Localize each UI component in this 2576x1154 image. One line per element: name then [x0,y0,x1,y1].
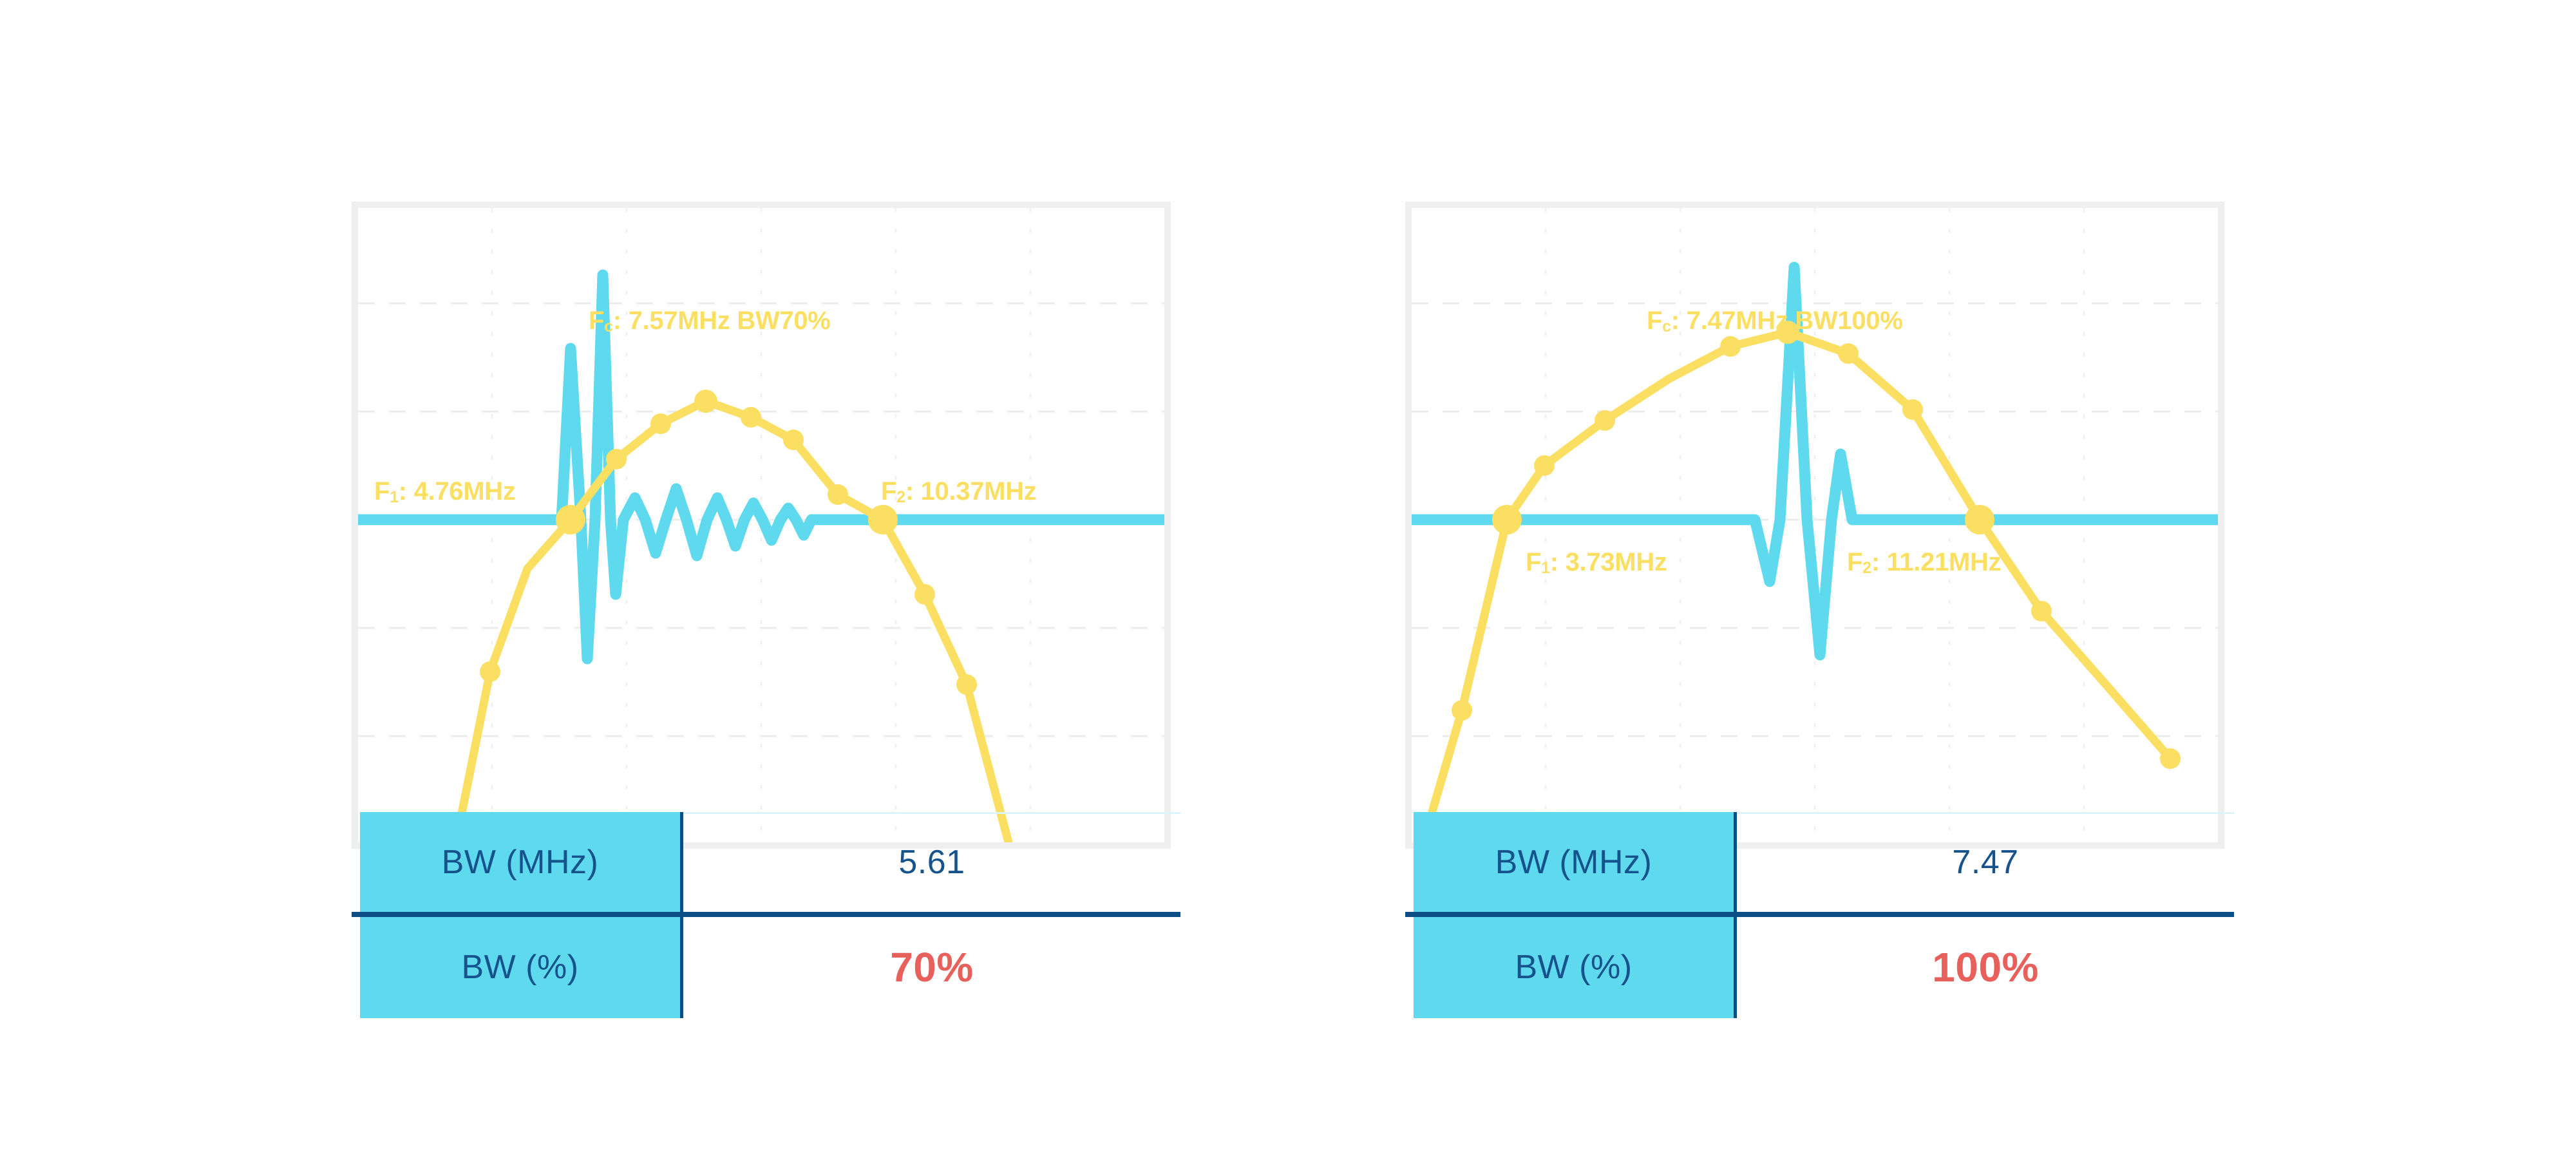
chart-svg-left [358,208,1164,842]
table-row: 100% [1737,917,2234,1017]
table-row: 70% [683,917,1180,1017]
table-row: BW (MHz) [1414,812,1734,912]
spectrum-trace-left [456,401,1009,842]
plot-area-left [358,208,1164,842]
bw-percent-label-right: BW (%) [1515,948,1632,987]
table-row: 5.61 [683,812,1180,912]
chart-frame-left: Fc: 7.57MHz BW70% F1: 4.76MHz F2: 10.37M… [352,202,1171,849]
spectrum-markers-right [1452,321,2181,769]
bw-mhz-value-right: 7.47 [1952,843,2018,882]
label-fc-left: Fc: 7.57MHz BW70% [589,308,831,334]
bw-mhz-value-left: 5.61 [898,843,965,882]
plot-area-right [1412,208,2218,842]
table-row: BW (MHz) [360,812,680,912]
measurement-panel-left: Fc: 7.57MHz BW70% F1: 4.76MHz F2: 10.37M… [352,0,1171,647]
result-table-left: BW (MHz) 5.61 BW (%) 70% [352,812,1189,1018]
bw-mhz-label-right: BW (MHz) [1495,843,1653,882]
table-horizontal-rule-left [352,912,1180,917]
table-row: BW (%) [1414,917,1734,1017]
table-horizontal-rule-right [1405,912,2234,917]
measurement-panel-right: Fc: 7.47MHz BW100% F1: 3.73MHz F2: 11.21… [1405,0,2224,647]
chart-frame-right: Fc: 7.47MHz BW100% F1: 3.73MHz F2: 11.21… [1405,202,2224,849]
label-fc-right: Fc: 7.47MHz BW100% [1647,308,1903,334]
label-f2-left: F2: 10.37MHz [881,478,1037,504]
table-row: 7.47 [1737,812,2234,912]
bw-percent-value-right: 100% [1932,943,2039,991]
label-f1-right: F1: 3.73MHz [1526,549,1667,575]
bw-mhz-label-left: BW (MHz) [442,843,599,882]
label-f1-left: F1: 4.76MHz [374,478,516,504]
comparison-figure: Fc: 7.57MHz BW70% F1: 4.76MHz F2: 10.37M… [0,0,2576,1154]
bw-percent-value-left: 70% [890,943,974,991]
chart-svg-right [1412,208,2218,842]
bw-percent-label-left: BW (%) [461,948,578,987]
table-row: BW (%) [360,917,680,1017]
label-f2-right: F2: 11.21MHz [1847,549,2001,575]
result-table-right: BW (MHz) 7.47 BW (%) 100% [1405,812,2242,1018]
